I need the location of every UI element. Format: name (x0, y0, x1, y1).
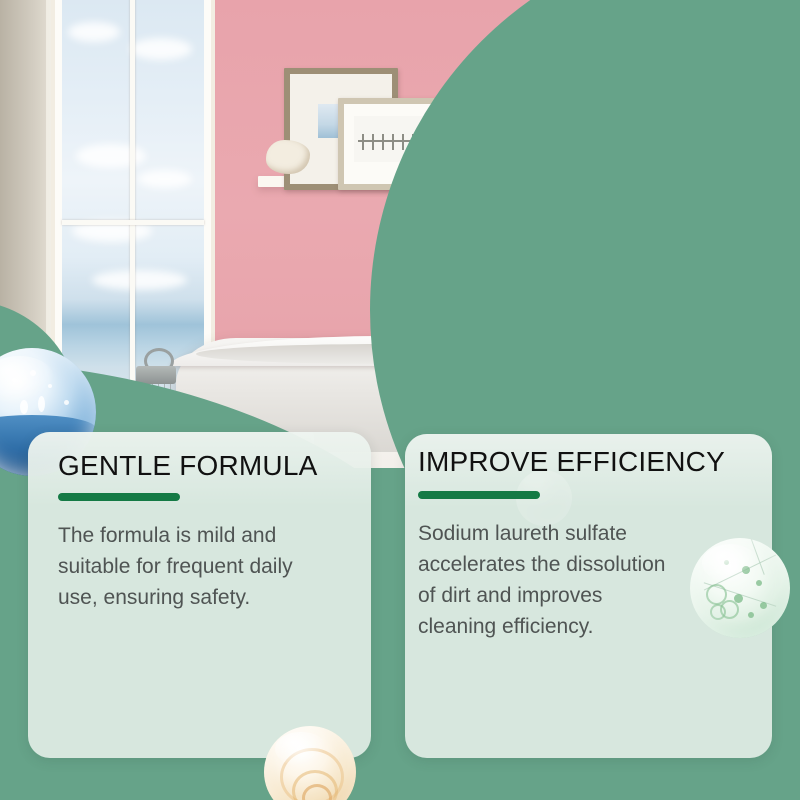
accent-bar-gentle-formula (58, 493, 180, 501)
coral-ornament (266, 140, 310, 174)
card-title-improve-efficiency: IMPROVE EFFICIENCY (418, 446, 725, 478)
accent-bar-improve-efficiency (418, 491, 540, 499)
card-body-improve-efficiency: Sodium laureth sulfate accelerates the d… (418, 518, 680, 642)
infographic-canvas: GENTLE FORMULA The formula is mild and s… (0, 0, 800, 800)
feature-card-gentle-formula[interactable]: GENTLE FORMULA The formula is mild and s… (28, 432, 371, 758)
card-body-gentle-formula: The formula is mild and suitable for fre… (58, 520, 334, 613)
card-title-gentle-formula: GENTLE FORMULA (58, 450, 318, 482)
green-molecule-bubble (690, 538, 790, 638)
